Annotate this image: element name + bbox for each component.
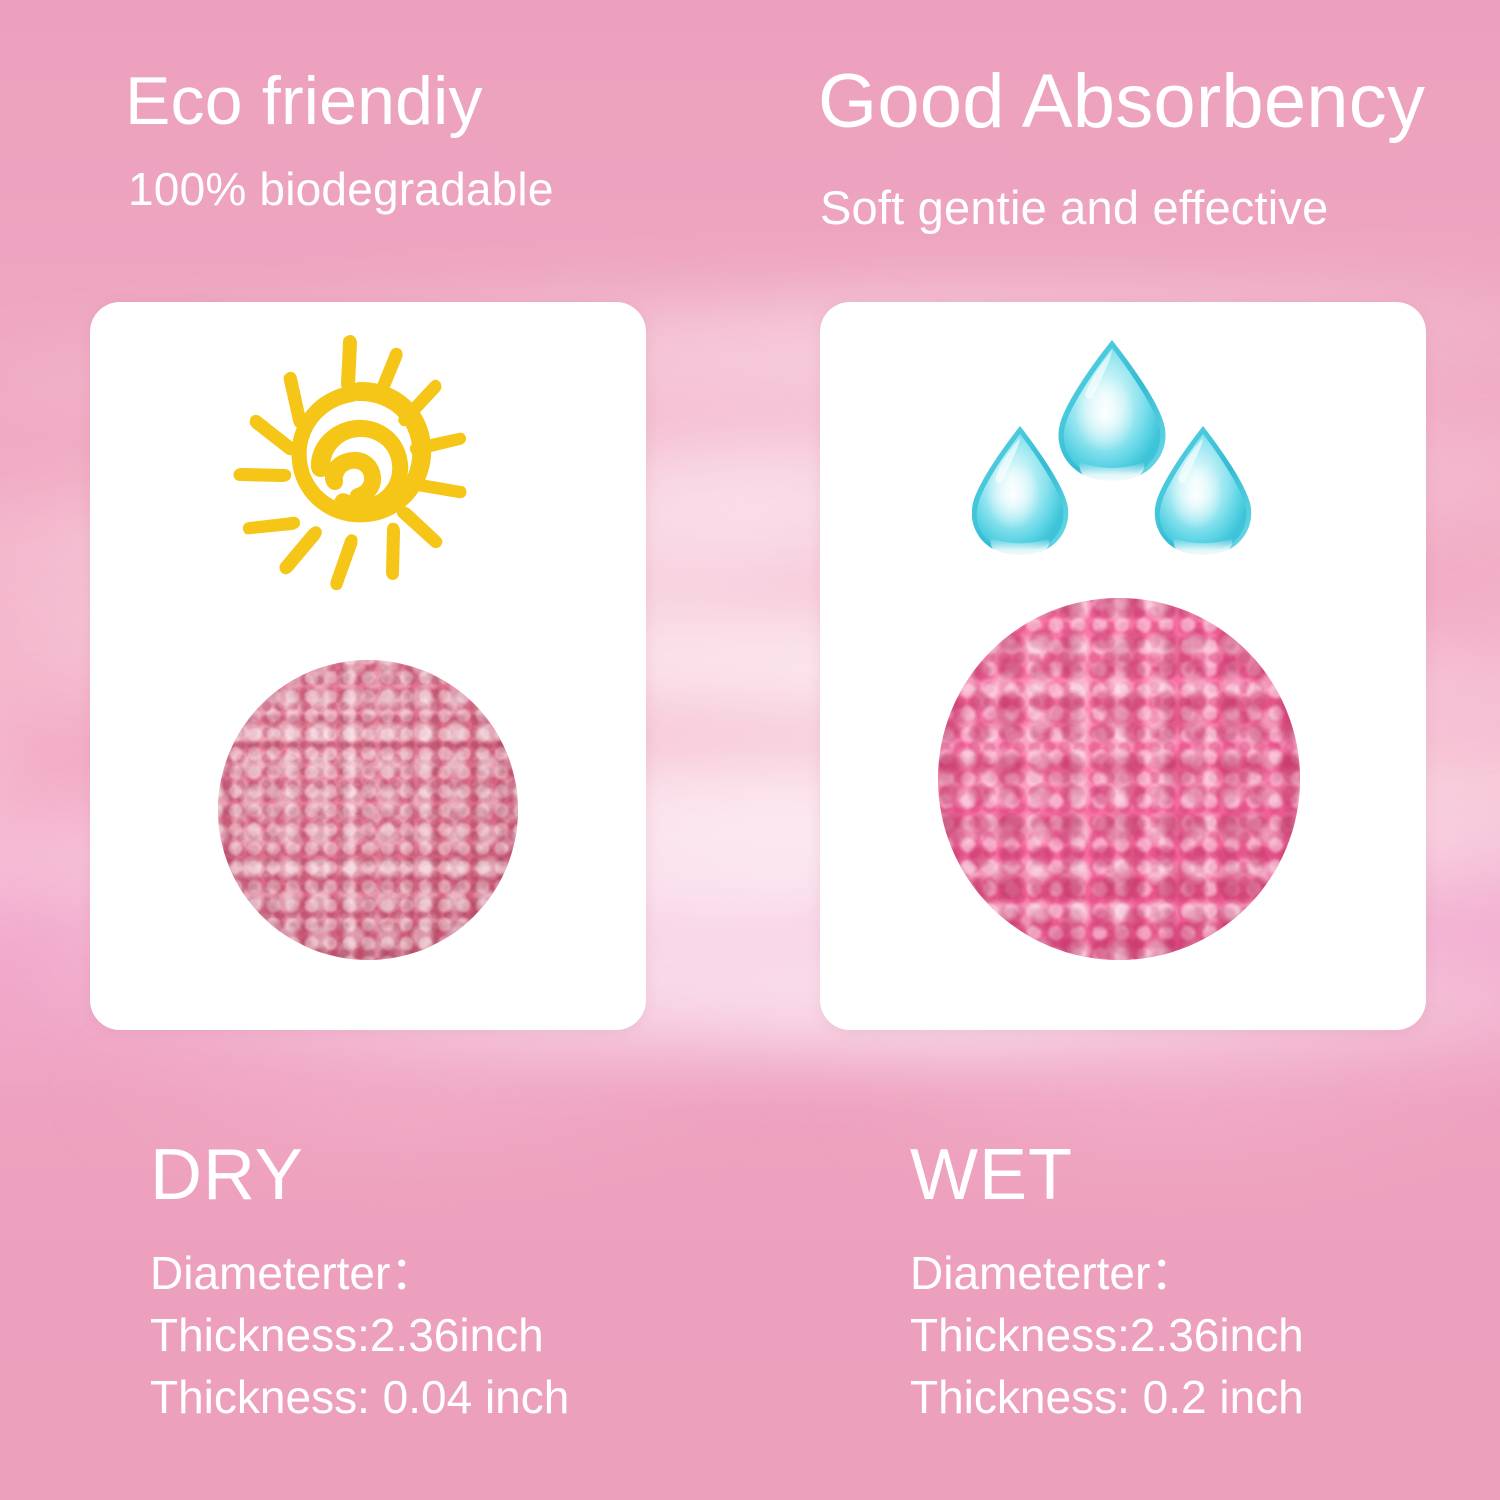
dry-sponge-texture xyxy=(218,660,518,960)
wet-spec-thickness-2: Thickness: 0.2 inch xyxy=(910,1366,1304,1428)
dry-panel-subheading: 100% biodegradable xyxy=(128,162,554,216)
wet-sponge-texture xyxy=(938,598,1300,960)
wet-spec-diameter: Diameterter： xyxy=(910,1242,1304,1304)
wet-state-label: WET xyxy=(910,1134,1073,1216)
water-drops-icon xyxy=(972,332,1252,582)
wet-spec-thickness-1: Thickness:2.36inch xyxy=(910,1304,1304,1366)
dry-product-card xyxy=(90,302,646,1030)
wet-sponge-image xyxy=(938,598,1300,960)
sun-icon xyxy=(228,330,478,598)
wet-panel-heading: Good Absorbency xyxy=(818,58,1425,145)
dry-spec-list: Diameterter： Thickness:2.36inch Thicknes… xyxy=(150,1242,569,1428)
dry-spec-thickness-1: Thickness:2.36inch xyxy=(150,1304,569,1366)
wet-product-card xyxy=(820,302,1426,1030)
dry-spec-diameter: Diameterter： xyxy=(150,1242,569,1304)
wet-spec-list: Diameterter： Thickness:2.36inch Thicknes… xyxy=(910,1242,1304,1428)
dry-sponge-image xyxy=(218,660,518,960)
wet-panel-subheading: Soft gentie and effective xyxy=(820,180,1328,235)
dry-state-label: DRY xyxy=(150,1134,304,1216)
dry-panel-heading: Eco friendiy xyxy=(125,62,483,140)
infographic-canvas: Eco friendiy 100% biodegradable Good Abs… xyxy=(0,0,1500,1500)
dry-spec-thickness-2: Thickness: 0.04 inch xyxy=(150,1366,569,1428)
